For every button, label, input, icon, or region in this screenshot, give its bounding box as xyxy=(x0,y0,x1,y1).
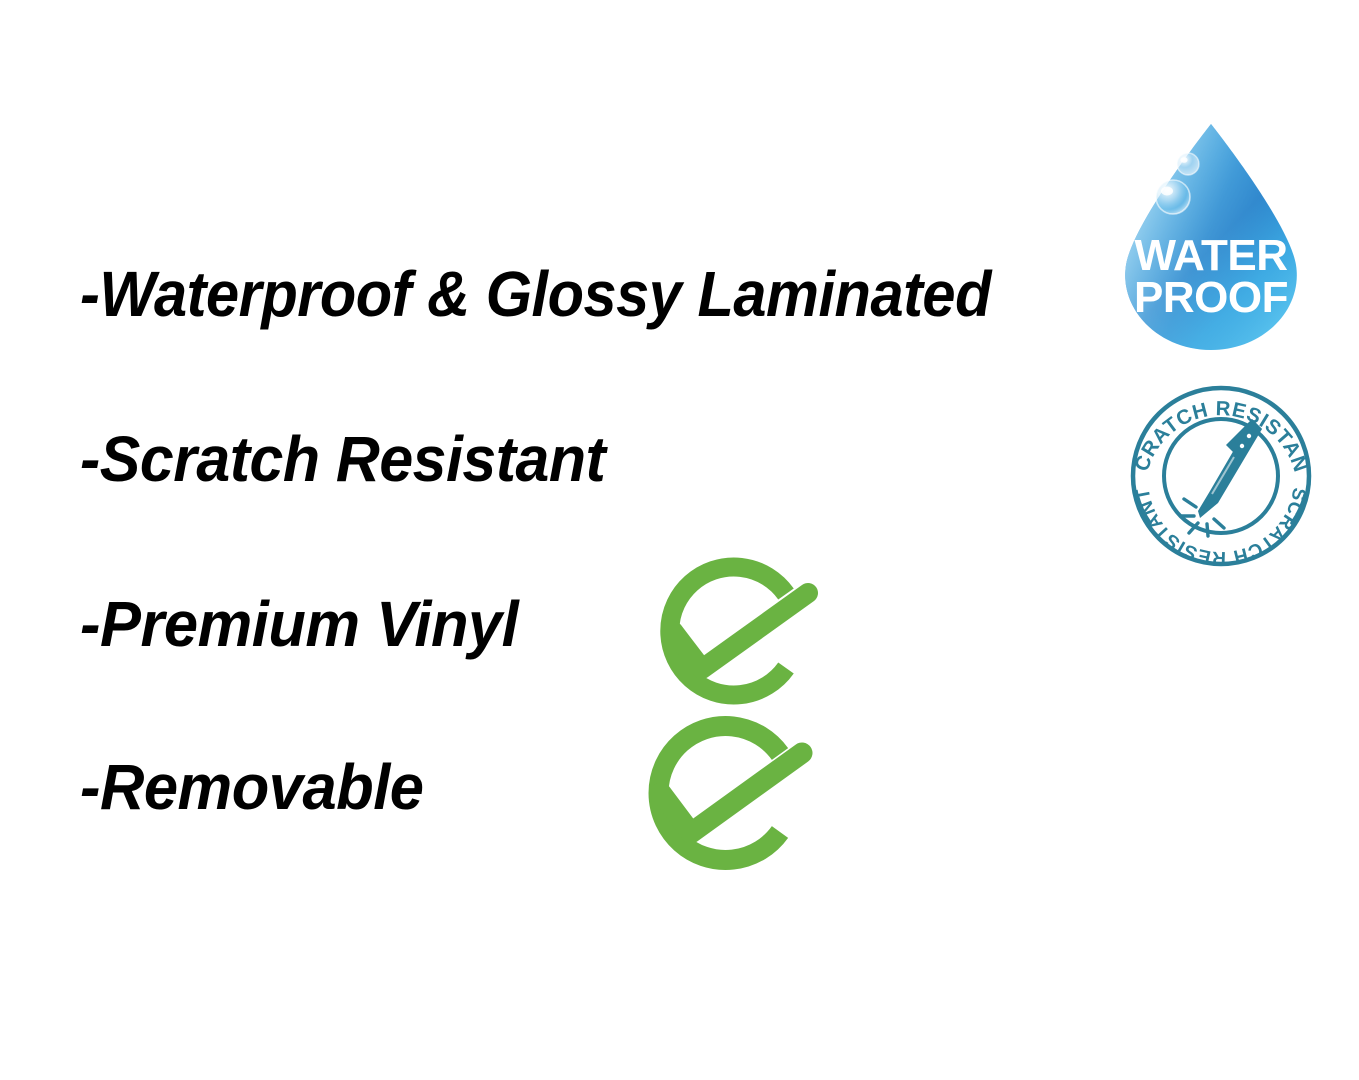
check-icon-premium-vinyl xyxy=(636,556,841,716)
waterproof-line2: PROOF xyxy=(1134,273,1288,322)
product-feature-graphic: -Waterproof & Glossy Laminated -Scratch … xyxy=(0,0,1359,1080)
check-mark-stroke xyxy=(661,753,802,833)
stamp-text-top: SCRATCH RESISTANT xyxy=(1119,365,1312,475)
feature-item-waterproof: -Waterproof & Glossy Laminated xyxy=(80,262,991,326)
water-bubble-highlight xyxy=(1161,187,1173,196)
feature-label: -Premium Vinyl xyxy=(80,592,518,656)
scratch-resistant-stamp-icon: SCRATCH RESISTANT SCRATCH RESISTANT xyxy=(1126,383,1316,567)
feature-item-removable: -Removable xyxy=(80,755,423,819)
feature-label: -Removable xyxy=(80,755,423,819)
check-icon-removable xyxy=(622,714,837,882)
check-mark-stroke xyxy=(673,593,808,669)
green-check-circle-icon xyxy=(636,556,841,716)
scratch-resistant-badge: SCRATCH RESISTANT SCRATCH RESISTANT xyxy=(1126,383,1316,567)
feature-item-scratch-resistant: -Scratch Resistant xyxy=(80,427,605,491)
water-bubble-highlight xyxy=(1180,157,1187,163)
feature-label: -Scratch Resistant xyxy=(80,427,605,491)
feature-label: -Waterproof & Glossy Laminated xyxy=(80,262,991,326)
feature-item-premium-vinyl: -Premium Vinyl xyxy=(80,592,518,656)
waterproof-badge: WATER PROOF xyxy=(1103,104,1319,372)
green-check-circle-icon xyxy=(622,714,837,882)
waterproof-droplet-icon: WATER PROOF xyxy=(1103,104,1319,372)
knife-icon xyxy=(1181,419,1262,536)
